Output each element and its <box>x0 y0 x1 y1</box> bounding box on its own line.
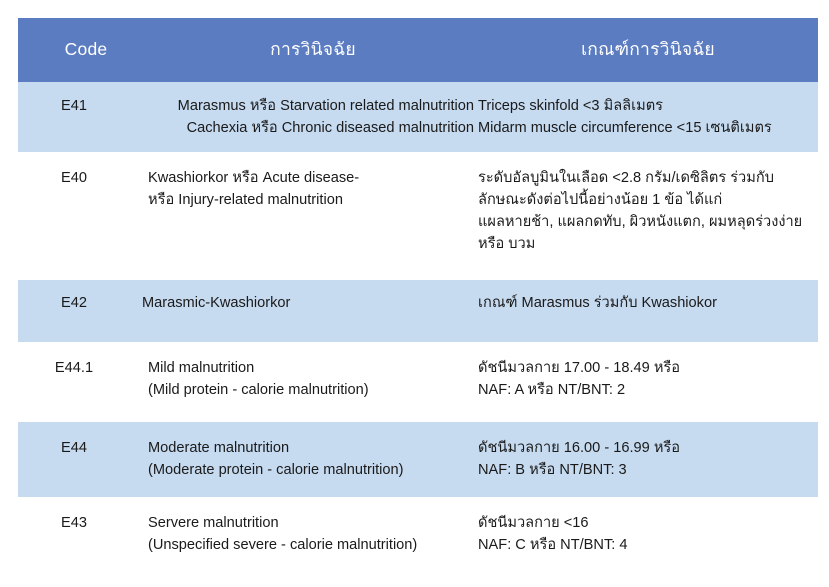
cell-code: E43 <box>18 497 130 569</box>
cell-diagnosis: Mild malnutrition (Mild protein - calori… <box>130 342 478 422</box>
column-header-code: Code <box>18 39 148 61</box>
cell-diagnosis: Marasmus หรือ Starvation related malnutr… <box>130 82 478 152</box>
cell-criteria: ดัชนีมวลกาย 17.00 - 18.49 หรือ NAF: A หร… <box>478 342 818 422</box>
column-header-diagnosis: การวินิจฉัย <box>148 39 478 61</box>
table-row: E42 Marasmic-Kwashiorkor เกณฑ์ Marasmus … <box>18 280 818 342</box>
cell-criteria: ดัชนีมวลกาย <16 NAF: C หรือ NT/BNT: 4 <box>478 497 818 569</box>
diagnosis-line: Cachexia หรือ Chronic diseased malnutrit… <box>130 118 474 140</box>
cell-code: E44 <box>18 422 130 497</box>
diagnosis-line: หรือ Injury-related malnutrition <box>148 190 474 212</box>
cell-code: E40 <box>18 152 130 280</box>
table-row: E40 Kwashiorkor หรือ Acute disease- หรือ… <box>18 152 818 280</box>
table-row: E44 Moderate malnutrition (Moderate prot… <box>18 422 818 497</box>
cell-code: E42 <box>18 280 130 342</box>
cell-code: E41 <box>18 82 130 152</box>
cell-criteria: ระดับอัลบูมินในเลือด <2.8 กรัม/เดซิลิตร … <box>478 152 818 280</box>
criteria-line: NAF: B หรือ NT/BNT: 3 <box>478 460 818 482</box>
cell-diagnosis: Moderate malnutrition (Moderate protein … <box>130 422 478 497</box>
diagnosis-line: Marasmus หรือ Starvation related malnutr… <box>130 96 474 118</box>
criteria-line: NAF: A หรือ NT/BNT: 2 <box>478 380 818 402</box>
diagnosis-line: (Unspecified severe - calorie malnutriti… <box>148 535 474 557</box>
diagnosis-line: Mild malnutrition <box>148 358 474 380</box>
table-row: E41 Marasmus หรือ Starvation related mal… <box>18 82 818 152</box>
table-row: E43 Servere malnutrition (Unspecified se… <box>18 497 818 569</box>
criteria-line: ดัชนีมวลกาย 17.00 - 18.49 หรือ <box>478 358 818 380</box>
diagnosis-line: Marasmic-Kwashiorkor <box>142 293 474 315</box>
criteria-line: ดัชนีมวลกาย 16.00 - 16.99 หรือ <box>478 438 818 460</box>
cell-diagnosis: Kwashiorkor หรือ Acute disease- หรือ Inj… <box>130 152 478 280</box>
diagnosis-line: Kwashiorkor หรือ Acute disease- <box>148 168 474 190</box>
criteria-line: แผลหายช้า, แผลกดทับ, ผิวหนังแตก, ผมหลุดร… <box>478 212 818 234</box>
diagnosis-line: (Moderate protein - calorie malnutrition… <box>148 460 474 482</box>
document-page: Code การวินิจฉัย เกณฑ์การวินิจฉัย E41 Ma… <box>0 0 829 587</box>
criteria-line: เกณฑ์ Marasmus ร่วมกับ Kwashiokor <box>478 293 818 315</box>
criteria-line: Triceps skinfold <3 มิลลิเมตร <box>478 96 818 118</box>
column-header-criteria: เกณฑ์การวินิจฉัย <box>478 39 818 61</box>
criteria-line: ดัชนีมวลกาย <16 <box>478 513 818 535</box>
diagnosis-criteria-table: Code การวินิจฉัย เกณฑ์การวินิจฉัย E41 Ma… <box>18 18 818 569</box>
criteria-line: Midarm muscle circumference <15 เซนติเมต… <box>478 118 818 140</box>
cell-diagnosis: Marasmic-Kwashiorkor <box>130 280 478 342</box>
cell-criteria: ดัชนีมวลกาย 16.00 - 16.99 หรือ NAF: B หร… <box>478 422 818 497</box>
criteria-line: ลักษณะดังต่อไปนี้อย่างน้อย 1 ข้อ ได้แก่ <box>478 190 818 212</box>
criteria-line: NAF: C หรือ NT/BNT: 4 <box>478 535 818 557</box>
diagnosis-line: (Mild protein - calorie malnutrition) <box>148 380 474 402</box>
criteria-line: หรือ บวม <box>478 234 818 256</box>
diagnosis-line: Moderate malnutrition <box>148 438 474 460</box>
cell-criteria: Triceps skinfold <3 มิลลิเมตร Midarm mus… <box>478 82 818 152</box>
table-header-row: Code การวินิจฉัย เกณฑ์การวินิจฉัย <box>18 18 818 82</box>
table-row: E44.1 Mild malnutrition (Mild protein - … <box>18 342 818 422</box>
cell-code: E44.1 <box>18 342 130 422</box>
cell-criteria: เกณฑ์ Marasmus ร่วมกับ Kwashiokor <box>478 280 818 342</box>
cell-diagnosis: Servere malnutrition (Unspecified severe… <box>130 497 478 569</box>
diagnosis-line: Servere malnutrition <box>148 513 474 535</box>
criteria-line: ระดับอัลบูมินในเลือด <2.8 กรัม/เดซิลิตร … <box>478 168 818 190</box>
